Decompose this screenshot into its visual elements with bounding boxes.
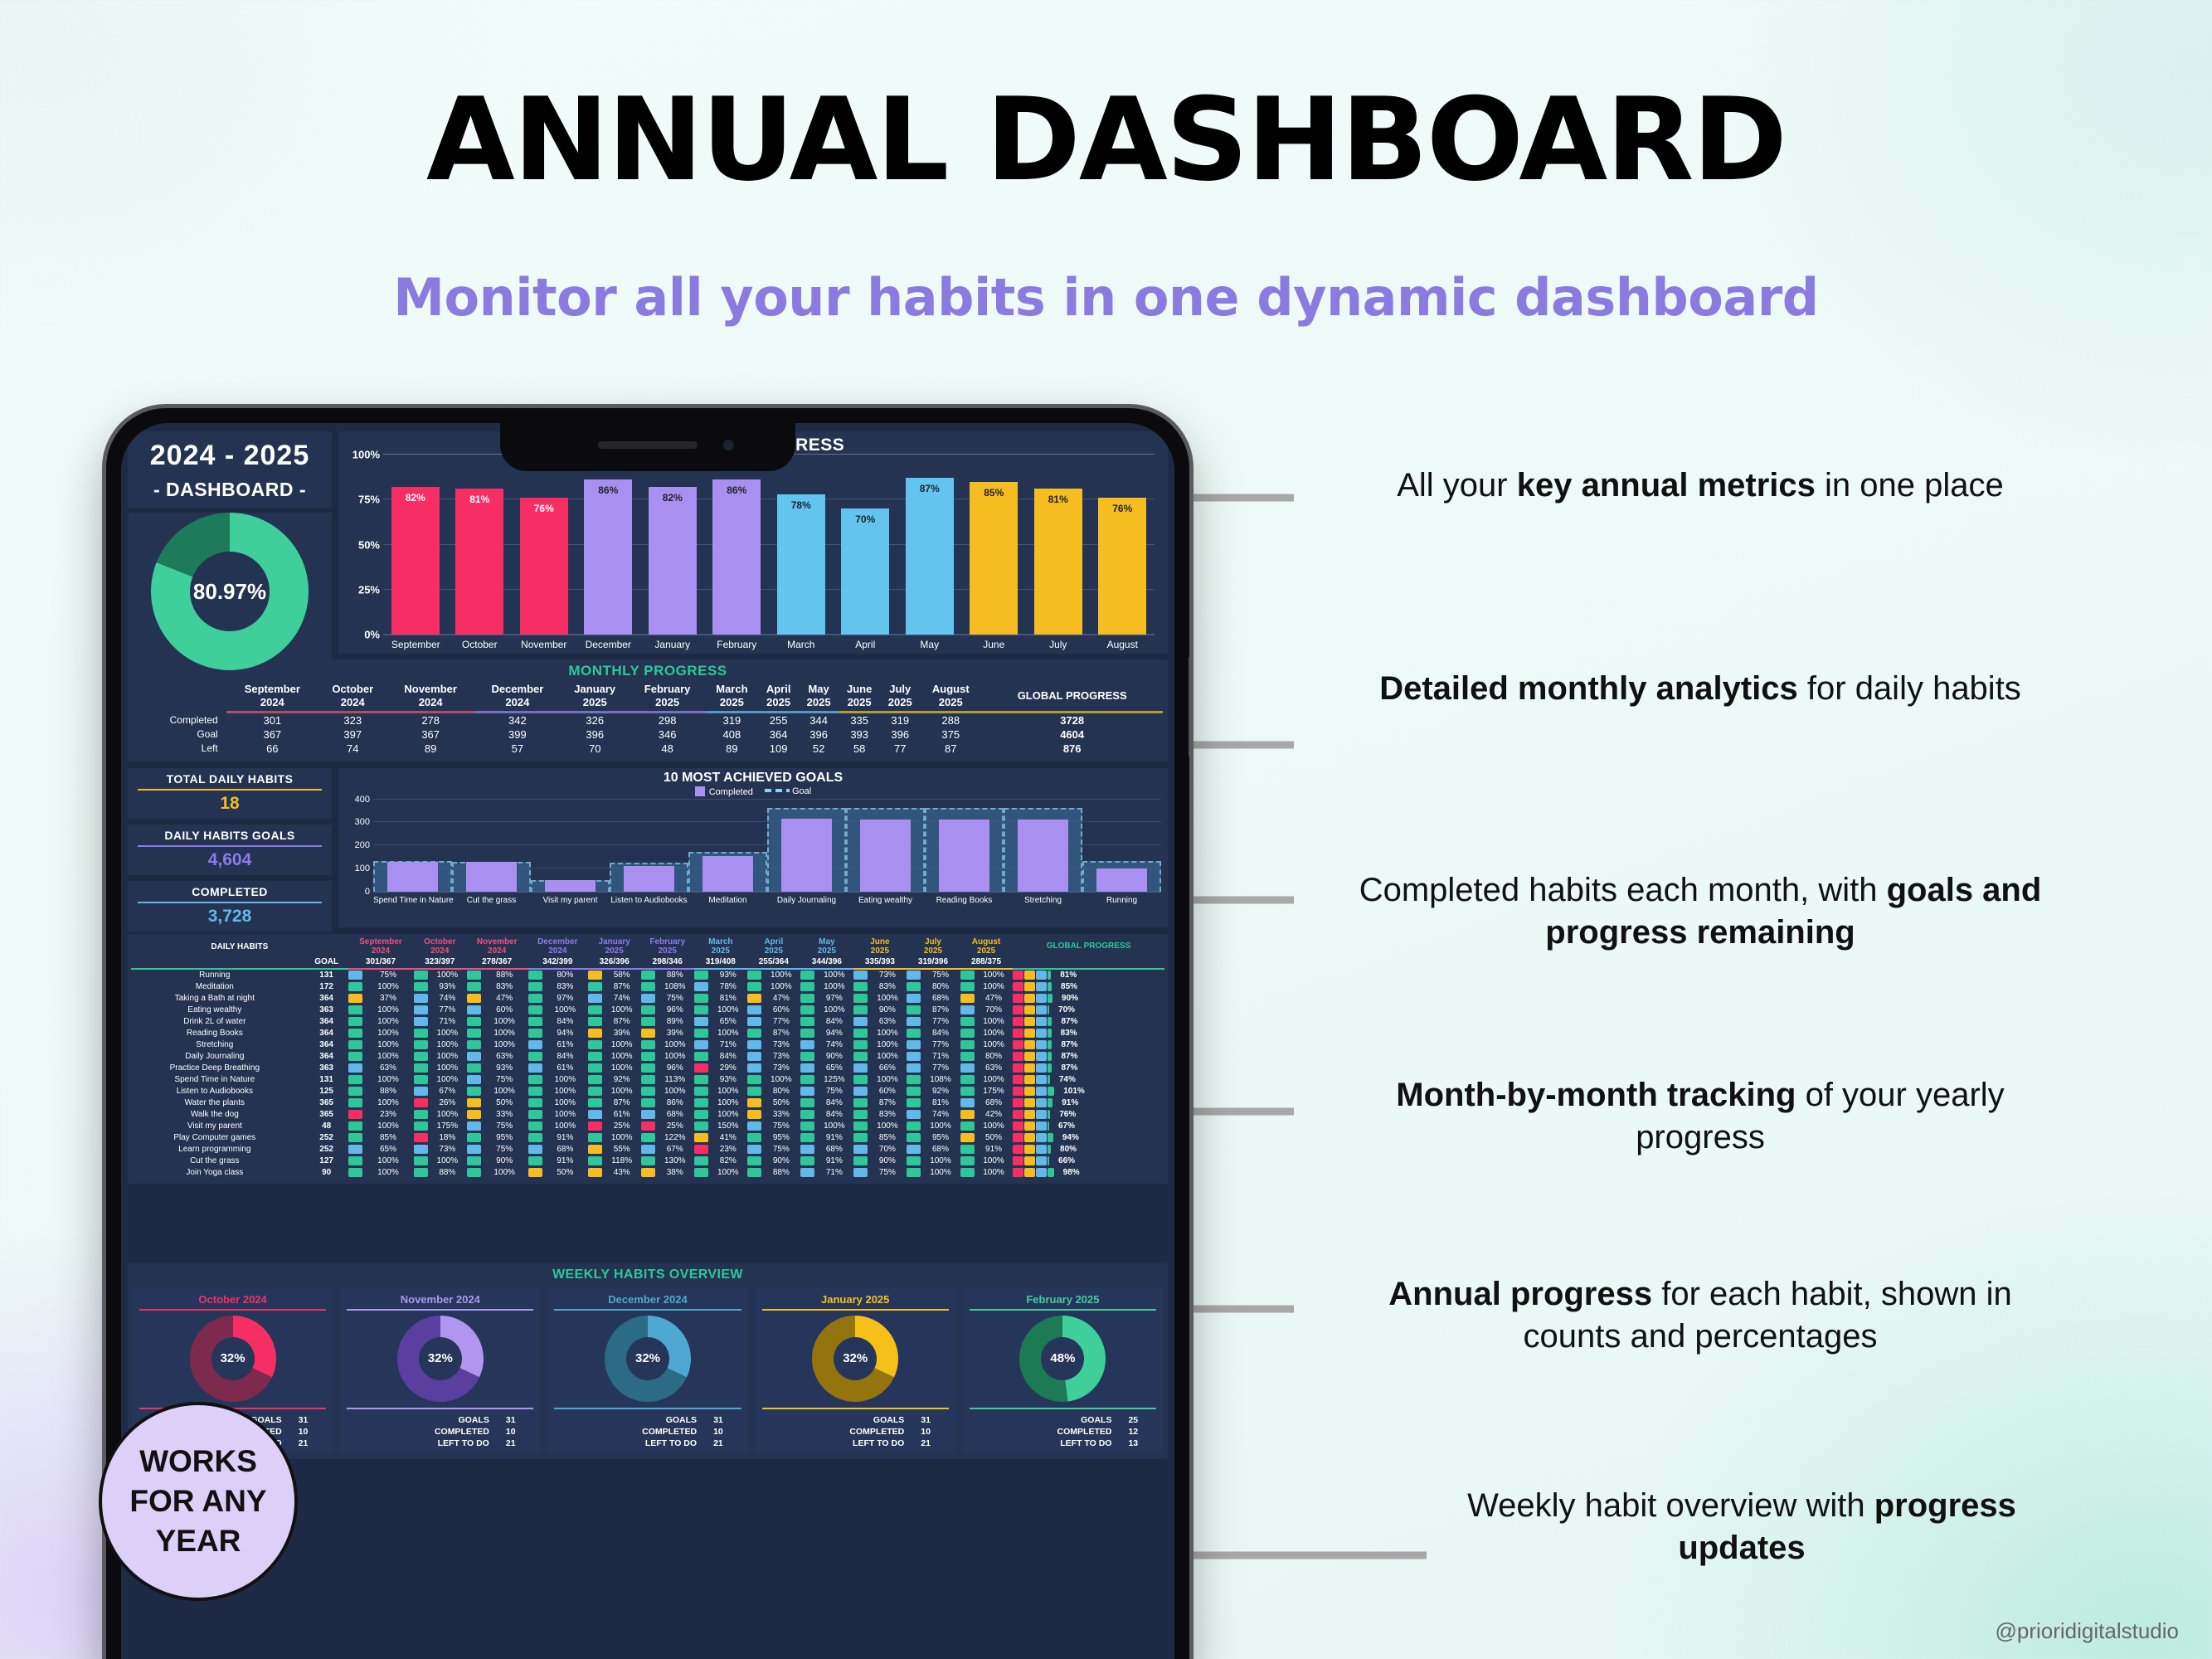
habit-month-pct: 26% [428,1097,466,1109]
habit-month-pct: 100% [363,1167,414,1179]
habit-month-pct: 74% [921,1109,960,1121]
overall-progress-card: 80.97% [128,513,332,670]
habit-name: Listen to Audiobooks [131,1086,305,1097]
annual-bar-january: 82%January [649,455,697,635]
habit-month-pct: 118% [603,1155,641,1167]
habit-month-header: January2025 [588,937,641,956]
habit-month-pct: 68% [921,1144,960,1155]
habit-month-pct: 60% [868,1086,907,1097]
habit-month-pct: 100% [975,1074,1013,1086]
annual-bar-august: 76%August [1098,455,1146,635]
habit-month-pct: 23% [363,1109,414,1121]
habit-month-pct: 100% [762,970,800,981]
habit-month-pct: 100% [603,1051,641,1063]
habit-name: Reading Books [131,1028,305,1039]
habit-name: Meditation [131,981,305,993]
habit-month-pct: 39% [603,1028,641,1039]
goal-bar-0: Spend Time in Nature [373,800,452,892]
weekly-donut-value: 32% [626,1337,669,1380]
table-row: Reading Books364100%100%100%94%39%39%100… [131,1028,1164,1039]
annual-bar-may: 87%May [906,455,954,635]
habit-month-pct: 100% [868,1074,907,1086]
habit-month-pct: 100% [428,970,466,981]
habit-goal: 364 [305,1016,348,1028]
habit-month-pct: 63% [868,1016,907,1028]
annual-bar-july: 81%July [1034,455,1082,635]
habit-name: Spend Time in Nature [131,1074,305,1086]
habit-month-pct: 92% [603,1074,641,1086]
habit-goal: 131 [305,1074,348,1086]
annual-bar-march: 78%March [777,455,825,635]
annual-bar-december: 86%December [584,455,632,635]
habit-month-pct: 91% [975,1144,1013,1155]
habit-month-pct: 81% [709,993,747,1005]
habit-month-pct: 75% [481,1074,527,1086]
habit-month-pct: 74% [815,1039,853,1051]
stat-value: 4,604 [128,850,332,870]
table-row: Join Yoga class90100%88%100%50%43%38%100… [131,1167,1164,1179]
habit-month-pct: 38% [656,1167,694,1179]
habit-name: Stretching [131,1039,305,1051]
habit-month-pct: 100% [656,1051,694,1063]
habit-month-pct: 130% [656,1155,694,1167]
global-progress-bar: 98% [1013,1168,1164,1177]
habit-month-pct: 100% [363,1121,414,1132]
weekly-month-label: October 2024 [138,1293,328,1306]
habit-month-pct: 100% [428,1063,466,1074]
habit-month-pct: 100% [481,1016,527,1028]
habit-month-pct: 61% [542,1063,588,1074]
month-header: August2025 [920,682,981,711]
habit-goal: 365 [305,1109,348,1121]
habit-goal: 364 [305,1051,348,1063]
daily-habits-title: DAILY HABITS [131,937,348,956]
habit-month-pct: 93% [481,1063,527,1074]
habit-month-pct: 100% [815,1005,853,1016]
habit-month-pct: 100% [428,1109,466,1121]
habit-name: Visit my parent [131,1121,305,1132]
table-row: Drink 2L of water364100%71%100%84%87%89%… [131,1016,1164,1028]
habit-month-pct: 71% [815,1167,853,1179]
habit-month-pct: 100% [656,1039,694,1051]
most-achieved-goals-chart: 10 MOST ACHIEVED GOALS Completed Goal 01… [338,768,1168,927]
habit-month-header: February2025 [641,937,694,956]
habit-name: Learn programming [131,1144,305,1155]
habit-month-pct: 122% [656,1132,694,1144]
habit-month-pct: 100% [428,1074,466,1086]
habit-month-pct: 55% [603,1144,641,1155]
global-progress-bar: 85% [1013,982,1164,991]
goal-bar-7: Reading Books [925,800,1004,892]
habit-month-pct: 63% [363,1063,414,1074]
habit-goal: 172 [305,981,348,993]
goal-bar-5: Daily Journaling [767,800,846,892]
habit-name: Daily Journaling [131,1051,305,1063]
habit-month-header: September2024 [348,937,414,956]
habit-month-pct: 91% [542,1132,588,1144]
weekly-month-label: January 2025 [761,1293,950,1306]
month-header: July2025 [880,682,920,711]
goal-bar-4: Meditation [688,800,767,892]
habit-month-pct: 47% [762,993,800,1005]
habit-month-pct: 89% [656,1016,694,1028]
habit-month-pct: 71% [428,1016,466,1028]
goal-bar-9: Running [1082,800,1161,892]
habit-goal: 365 [305,1097,348,1109]
habit-month-pct: 94% [542,1028,588,1039]
habit-month-pct: 100% [481,1028,527,1039]
goal-bar-1: Cut the grass [452,800,531,892]
annual-bar-october: 81%October [455,455,503,635]
habit-month-pct: 96% [656,1063,694,1074]
habit-month-pct: 87% [603,981,641,993]
habit-month-pct: 100% [542,1121,588,1132]
habit-global-pct: 81% [1060,971,1077,980]
habit-month-pct: 47% [975,993,1013,1005]
dashboard-label: - DASHBOARD - [128,479,332,501]
habit-month-pct: 60% [481,1005,527,1016]
habit-name: Cut the grass [131,1155,305,1167]
habit-month-pct: 150% [709,1121,747,1132]
weekly-donut-value: 48% [1041,1337,1084,1380]
habit-month-pct: 100% [921,1155,960,1167]
habit-month-pct: 100% [542,1097,588,1109]
habit-month-pct: 100% [815,981,853,993]
habit-month-header: May2025 [800,937,853,956]
global-progress-bar: 91% [1013,1098,1164,1107]
habit-goal: 127 [305,1155,348,1167]
habit-month-pct: 37% [363,993,414,1005]
daily-habits-table: DAILY HABITSSeptember2024October2024Nove… [128,934,1168,1184]
table-row: COMPLETED12 [968,1426,1158,1438]
overall-donut-chart: 80.97% [151,513,309,670]
global-progress-bar: 66% [1013,1156,1164,1165]
habit-global-pct: 76% [1059,1110,1076,1119]
badge-line-3: YEAR [156,1521,241,1561]
habit-month-pct: 100% [481,1039,527,1051]
habit-name: Drink 2L of water [131,1016,305,1028]
habit-month-pct: 67% [656,1144,694,1155]
habit-month-pct: 87% [603,1016,641,1028]
habit-month-pct: 50% [762,1097,800,1109]
habit-month-pct: 74% [428,993,466,1005]
habit-month-pct: 100% [975,1167,1013,1179]
habit-global-pct: 70% [1058,1005,1075,1014]
global-progress-bar: 87% [1013,1063,1164,1073]
habit-month-pct: 100% [603,1039,641,1051]
habit-goal: 363 [305,1063,348,1074]
habit-month-pct: 65% [709,1016,747,1028]
habit-month-pct: 100% [815,1121,853,1132]
habit-global-pct: 80% [1060,1145,1077,1154]
habit-month-pct: 75% [656,993,694,1005]
habit-month-pct: 100% [542,1074,588,1086]
table-row: Water the plants365100%26%50%100%87%86%1… [131,1097,1164,1109]
table-row: Cut the grass127100%100%90%91%118%130%82… [131,1155,1164,1167]
stat-label: COMPLETED [128,885,332,898]
stat-card: DAILY HABITS GOALS 4,604 [128,825,332,875]
habit-month-pct: 93% [428,981,466,993]
habit-month-pct: 61% [542,1039,588,1051]
habit-month-pct: 73% [428,1144,466,1155]
habit-month-pct: 78% [709,981,747,993]
habit-month-pct: 80% [762,1086,800,1097]
habit-month-pct: 80% [921,981,960,993]
table-row: Meditation172100%93%83%83%87%108%78%100%… [131,981,1164,993]
habit-month-pct: 100% [868,993,907,1005]
habit-month-pct: 90% [762,1155,800,1167]
global-progress-bar: 80% [1013,1145,1164,1154]
habit-goal: 364 [305,1028,348,1039]
habit-month-pct: 100% [603,1086,641,1097]
global-progress-bar: 67% [1013,1121,1164,1131]
habit-month-pct: 93% [709,1074,747,1086]
key-stats-column: TOTAL DAILY HABITS 18DAILY HABITS GOALS … [128,768,332,927]
habit-month-pct: 68% [542,1144,588,1155]
habit-month-pct: 108% [656,981,694,993]
habit-month-pct: 100% [428,1155,466,1167]
table-row: COMPLETED10 [761,1426,950,1438]
table-row: Stretching364100%100%100%61%100%100%71%7… [131,1039,1164,1051]
month-header: December2024 [474,682,561,711]
habit-global-pct: 87% [1061,1040,1077,1049]
table-row: Left6674895770488910952587787876 [133,742,1163,756]
habit-name: Eating wealthy [131,1005,305,1016]
habit-month-pct: 95% [481,1132,527,1144]
table-row: GOALS31 [345,1414,535,1426]
habit-month-pct: 87% [762,1028,800,1039]
habit-goal: 90 [305,1167,348,1179]
habit-month-pct: 100% [868,1039,907,1051]
habit-month-pct: 80% [975,1051,1013,1063]
habit-month-pct: 43% [603,1167,641,1179]
habit-month-pct: 100% [603,1005,641,1016]
habit-month-pct: 70% [868,1144,907,1155]
habit-month-pct: 75% [481,1121,527,1132]
chart-legend: Completed Goal [338,786,1168,797]
habit-global-pct: 87% [1061,1063,1077,1073]
stat-card: COMPLETED 3,728 [128,881,332,932]
weekly-donut-chart: 48% [1019,1316,1106,1402]
habit-month-pct: 100% [428,1039,466,1051]
weekly-month-card: January 2025 32% GOALS31 COMPLETED10 LEF… [756,1288,955,1452]
table-row: Play Computer games25285%18%95%91%100%12… [131,1132,1164,1144]
habit-month-pct: 100% [481,1167,527,1179]
habit-goal: 364 [305,1039,348,1051]
habit-month-pct: 83% [481,981,527,993]
habit-goal: 252 [305,1144,348,1155]
habit-global-pct: 74% [1059,1075,1076,1084]
monthly-progress-table: MONTHLY PROGRESS September2024October202… [128,659,1168,761]
global-progress-header: GLOBAL PROGRESS [1013,937,1164,956]
habit-month-pct: 88% [363,1086,414,1097]
habit-month-header: March2025 [694,937,747,956]
month-header: January2025 [561,682,630,711]
poster-stage: ANNUAL DASHBOARD Monitor all your habits… [0,0,2212,1659]
habit-name: Water the plants [131,1097,305,1109]
habit-month-pct: 61% [603,1109,641,1121]
watermark: @prioridigitalstudio [1996,1618,2180,1644]
habit-month-pct: 90% [481,1155,527,1167]
most-achieved-goals-title: 10 MOST ACHIEVED GOALS [338,771,1168,786]
habit-month-pct: 100% [363,981,414,993]
month-header: September2024 [226,682,318,711]
global-progress-bar: 101% [1013,1087,1164,1096]
habit-month-pct: 63% [481,1051,527,1063]
habit-month-pct: 100% [921,1167,960,1179]
habit-month-pct: 66% [868,1063,907,1074]
habit-month-header: July2025 [907,937,960,956]
habit-name: Running [131,970,305,981]
habit-month-pct: 96% [656,1005,694,1016]
global-progress-bar: 87% [1013,1052,1164,1061]
month-header: June2025 [839,682,880,711]
page-title: ANNUAL DASHBOARD [0,73,2212,207]
habit-month-pct: 91% [542,1155,588,1167]
habit-month-pct: 100% [975,1155,1013,1167]
habit-month-pct: 100% [709,1167,747,1179]
habit-month-pct: 100% [603,1063,641,1074]
weekly-month-card: November 2024 32% GOALS31 COMPLETED10 LE… [340,1288,540,1452]
habit-global-pct: 90% [1062,994,1078,1003]
habit-month-pct: 75% [868,1167,907,1179]
habit-global-pct: 91% [1062,1098,1078,1107]
habit-goal: 48 [305,1121,348,1132]
habit-month-pct: 80% [542,970,588,981]
habit-month-pct: 73% [762,1051,800,1063]
global-progress-bar: 74% [1013,1075,1164,1084]
stat-card: TOTAL DAILY HABITS 18 [128,768,332,819]
habit-month-pct: 71% [921,1051,960,1063]
habit-month-pct: 68% [921,993,960,1005]
habit-month-pct: 90% [868,1005,907,1016]
habit-month-pct: 100% [709,1005,747,1016]
goal-bar-8: Stretching [1004,800,1082,892]
habit-month-pct: 84% [709,1051,747,1063]
habit-goal: 252 [305,1132,348,1144]
habit-month-pct: 97% [542,993,588,1005]
habit-month-header: November2024 [466,937,527,956]
table-row: Eating wealthy363100%77%60%100%100%96%10… [131,1005,1164,1016]
habit-month-pct: 100% [975,1039,1013,1051]
habit-month-pct: 113% [656,1074,694,1086]
habit-month-pct: 42% [975,1109,1013,1121]
habit-goal: 363 [305,1005,348,1016]
weekly-overview-title: WEEKLY HABITS OVERVIEW [133,1267,1163,1282]
habit-month-pct: 100% [603,1132,641,1144]
month-header: February2025 [630,682,706,711]
weekly-donut-value: 32% [834,1337,877,1380]
callout-6: Weekly habit overview with progress upda… [1427,1485,2057,1569]
habit-month-pct: 33% [762,1109,800,1121]
habit-month-pct: 85% [363,1132,414,1144]
habit-month-pct: 75% [815,1086,853,1097]
callout-2: Detailed monthly analytics for daily hab… [1344,668,2057,710]
habit-month-pct: 88% [428,1167,466,1179]
callout-5: Annual progress for each habit, shown in… [1344,1273,2057,1358]
habit-month-pct: 100% [363,1074,414,1086]
habit-month-pct: 81% [921,1097,960,1109]
habit-global-pct: 94% [1062,1133,1079,1142]
weekly-donut-chart: 32% [397,1316,484,1402]
habit-month-pct: 100% [428,1051,466,1063]
table-row: COMPLETED10 [345,1426,535,1438]
habit-month-pct: 75% [921,970,960,981]
habit-month-pct: 125% [815,1074,853,1086]
habit-month-pct: 87% [603,1097,641,1109]
habit-month-pct: 100% [363,1028,414,1039]
habit-month-pct: 68% [656,1109,694,1121]
habit-month-pct: 88% [481,970,527,981]
legend-goal: Goal [765,786,811,796]
year-header: 2024 - 2025 - DASHBOARD - [128,431,332,508]
global-progress-bar: 83% [1013,1029,1164,1038]
habit-month-pct: 65% [815,1063,853,1074]
page-subtitle: Monitor all your habits in one dynamic d… [0,267,2212,328]
month-header: October2024 [318,682,387,711]
habit-month-pct: 47% [481,993,527,1005]
habit-month-pct: 88% [762,1167,800,1179]
stat-value: 18 [128,794,332,814]
table-row: Learn programming25265%73%75%68%55%67%23… [131,1144,1164,1155]
habit-month-pct: 100% [709,1097,747,1109]
habit-month-header: June2025 [853,937,907,956]
year-range: 2024 - 2025 [128,440,332,472]
habit-month-pct: 100% [815,970,853,981]
habit-month-pct: 73% [868,970,907,981]
month-header: April2025 [758,682,799,711]
habit-month-pct: 77% [921,1063,960,1074]
habit-name: Taking a Bath at night [131,993,305,1005]
habit-month-pct: 100% [868,1121,907,1132]
global-progress-bar: 90% [1013,994,1164,1003]
habit-global-pct: 98% [1063,1168,1080,1177]
habit-month-pct: 84% [542,1051,588,1063]
table-row: Walk the dog36523%100%33%100%61%68%100%3… [131,1109,1164,1121]
habit-month-pct: 75% [762,1121,800,1132]
habit-month-header: April2025 [747,937,800,956]
habit-global-pct: 83% [1061,1029,1077,1038]
habit-month-pct: 91% [815,1155,853,1167]
habit-month-pct: 94% [815,1028,853,1039]
habit-month-pct: 73% [762,1039,800,1051]
habit-month-pct: 175% [975,1086,1013,1097]
table-row: Practice Deep Breathing36363%100%93%61%1… [131,1063,1164,1074]
goals-plot: 0100200300400Spend Time in NatureCut the… [373,800,1161,893]
habit-month-pct: 87% [868,1097,907,1109]
habit-month-pct: 83% [542,981,588,993]
table-row: GOALS31 [552,1414,742,1426]
habit-month-pct: 50% [481,1097,527,1109]
table-row: LEFT TO DO13 [968,1438,1158,1449]
month-header: May2025 [799,682,839,711]
habit-month-pct: 75% [762,1144,800,1155]
habit-month-pct: 108% [921,1074,960,1086]
table-row: GOALS25 [968,1414,1158,1426]
habit-month-pct: 58% [603,970,641,981]
habit-month-pct: 95% [921,1132,960,1144]
habit-month-pct: 87% [921,1005,960,1016]
weekly-month-label: November 2024 [345,1293,535,1306]
table-row: Running13175%100%88%80%58%88%93%100%100%… [131,970,1164,981]
habit-month-pct: 60% [762,1005,800,1016]
global-progress-bar: 76% [1013,1110,1164,1119]
habit-month-pct: 100% [542,1005,588,1016]
habit-month-pct: 100% [363,1005,414,1016]
annual-bar-september: 82%September [391,455,440,635]
habit-month-pct: 84% [921,1028,960,1039]
habit-month-pct: 83% [868,981,907,993]
